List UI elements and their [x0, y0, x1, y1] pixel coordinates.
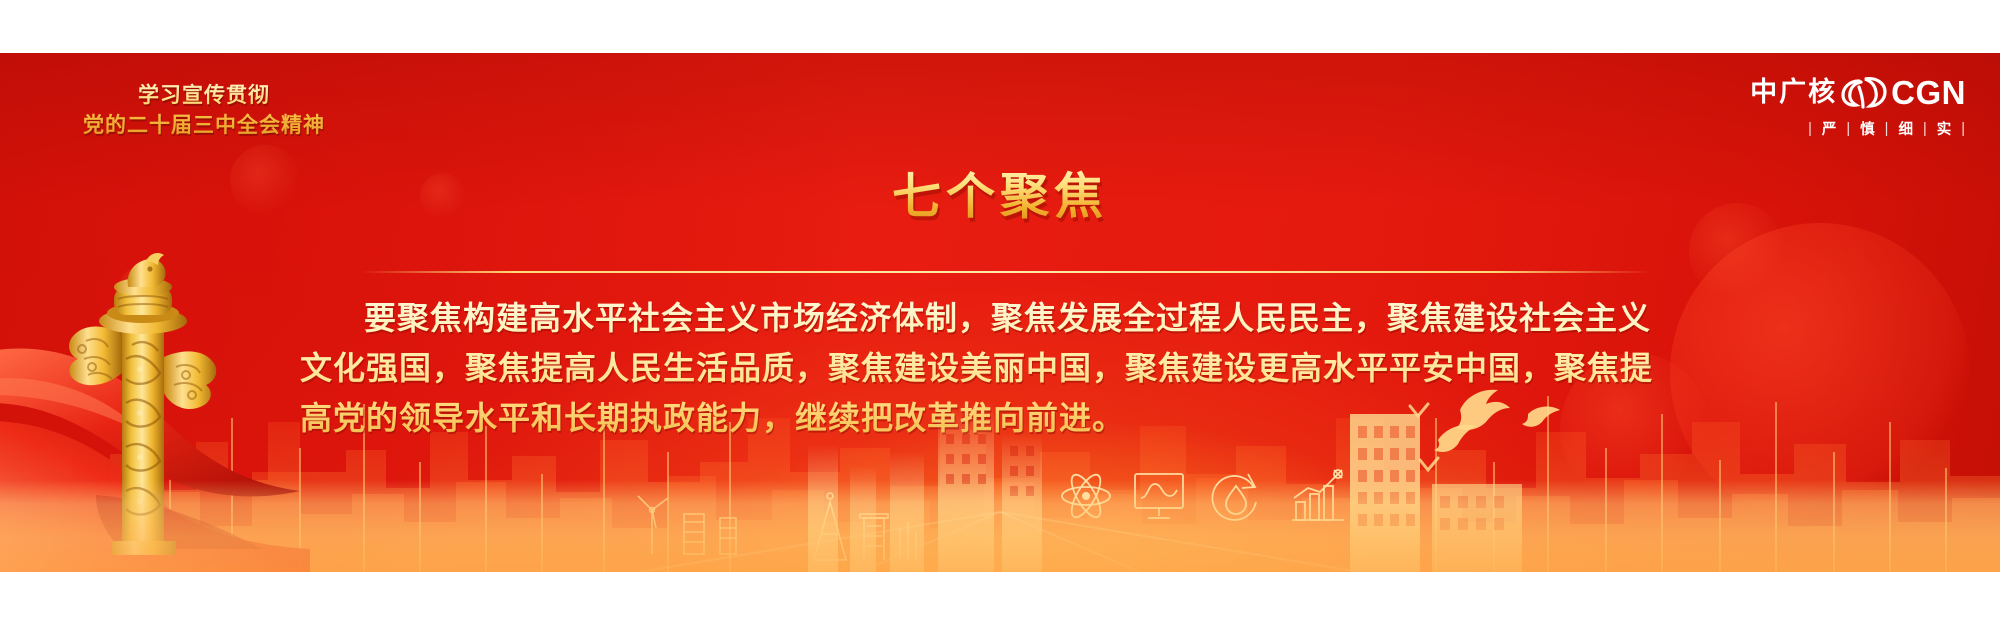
slogan-line-2: 党的二十届三中全会精神: [64, 111, 344, 141]
banner-stage: 学习宣传贯彻 党的二十届三中全会精神 中广核 CGN: [0, 0, 2000, 625]
logo-values-row: | 严 | 慎 | 细 | 实 |: [1750, 118, 1966, 139]
value-yan: 严: [1822, 118, 1838, 139]
values-separator: |: [1885, 121, 1890, 137]
values-separator: |: [1808, 121, 1813, 137]
values-separator: |: [1923, 121, 1928, 137]
red-banner: 学习宣传贯彻 党的二十届三中全会精神 中广核 CGN: [0, 53, 2000, 572]
bokeh-circle: [120, 268, 154, 302]
logo-english-name: CGN: [1891, 76, 1966, 109]
cgn-logo: 中广核 CGN | 严 | 慎 | 细: [1750, 75, 1966, 139]
body-line-1: 要聚焦构建高水平社会主义市场经济体制，聚焦发展全过程人民民主，聚焦建设社会主义: [300, 293, 1700, 343]
values-separator: |: [1961, 121, 1966, 137]
logo-main-row: 中广核 CGN: [1750, 75, 1966, 109]
body-line-2: 文化强国，聚焦提高人民生活品质，聚焦建设美丽中国，聚焦建设更高水平平安中国，聚焦…: [300, 343, 1700, 393]
value-xi: 细: [1898, 118, 1914, 139]
cgn-swirl-mark-icon: [1839, 75, 1889, 109]
slogan-line-1: 学习宣传贯彻: [64, 81, 344, 111]
campaign-slogan: 学习宣传贯彻 党的二十届三中全会精神: [64, 81, 344, 141]
page-title: 七个聚焦: [0, 157, 2000, 228]
values-separator: |: [1846, 121, 1851, 137]
value-shi: 实: [1937, 118, 1953, 139]
bokeh-circle: [1670, 223, 1970, 523]
ground-glow: [0, 480, 2000, 572]
banner-body-text: 要聚焦构建高水平社会主义市场经济体制，聚焦发展全过程人民民主，聚焦建设社会主义 …: [300, 293, 1700, 443]
logo-chinese-name: 中广核: [1750, 79, 1837, 106]
value-shen: 慎: [1860, 118, 1876, 139]
title-divider: [360, 271, 1650, 273]
body-line-3: 高党的领导水平和长期执政能力，继续把改革推向前进。: [300, 393, 1700, 443]
